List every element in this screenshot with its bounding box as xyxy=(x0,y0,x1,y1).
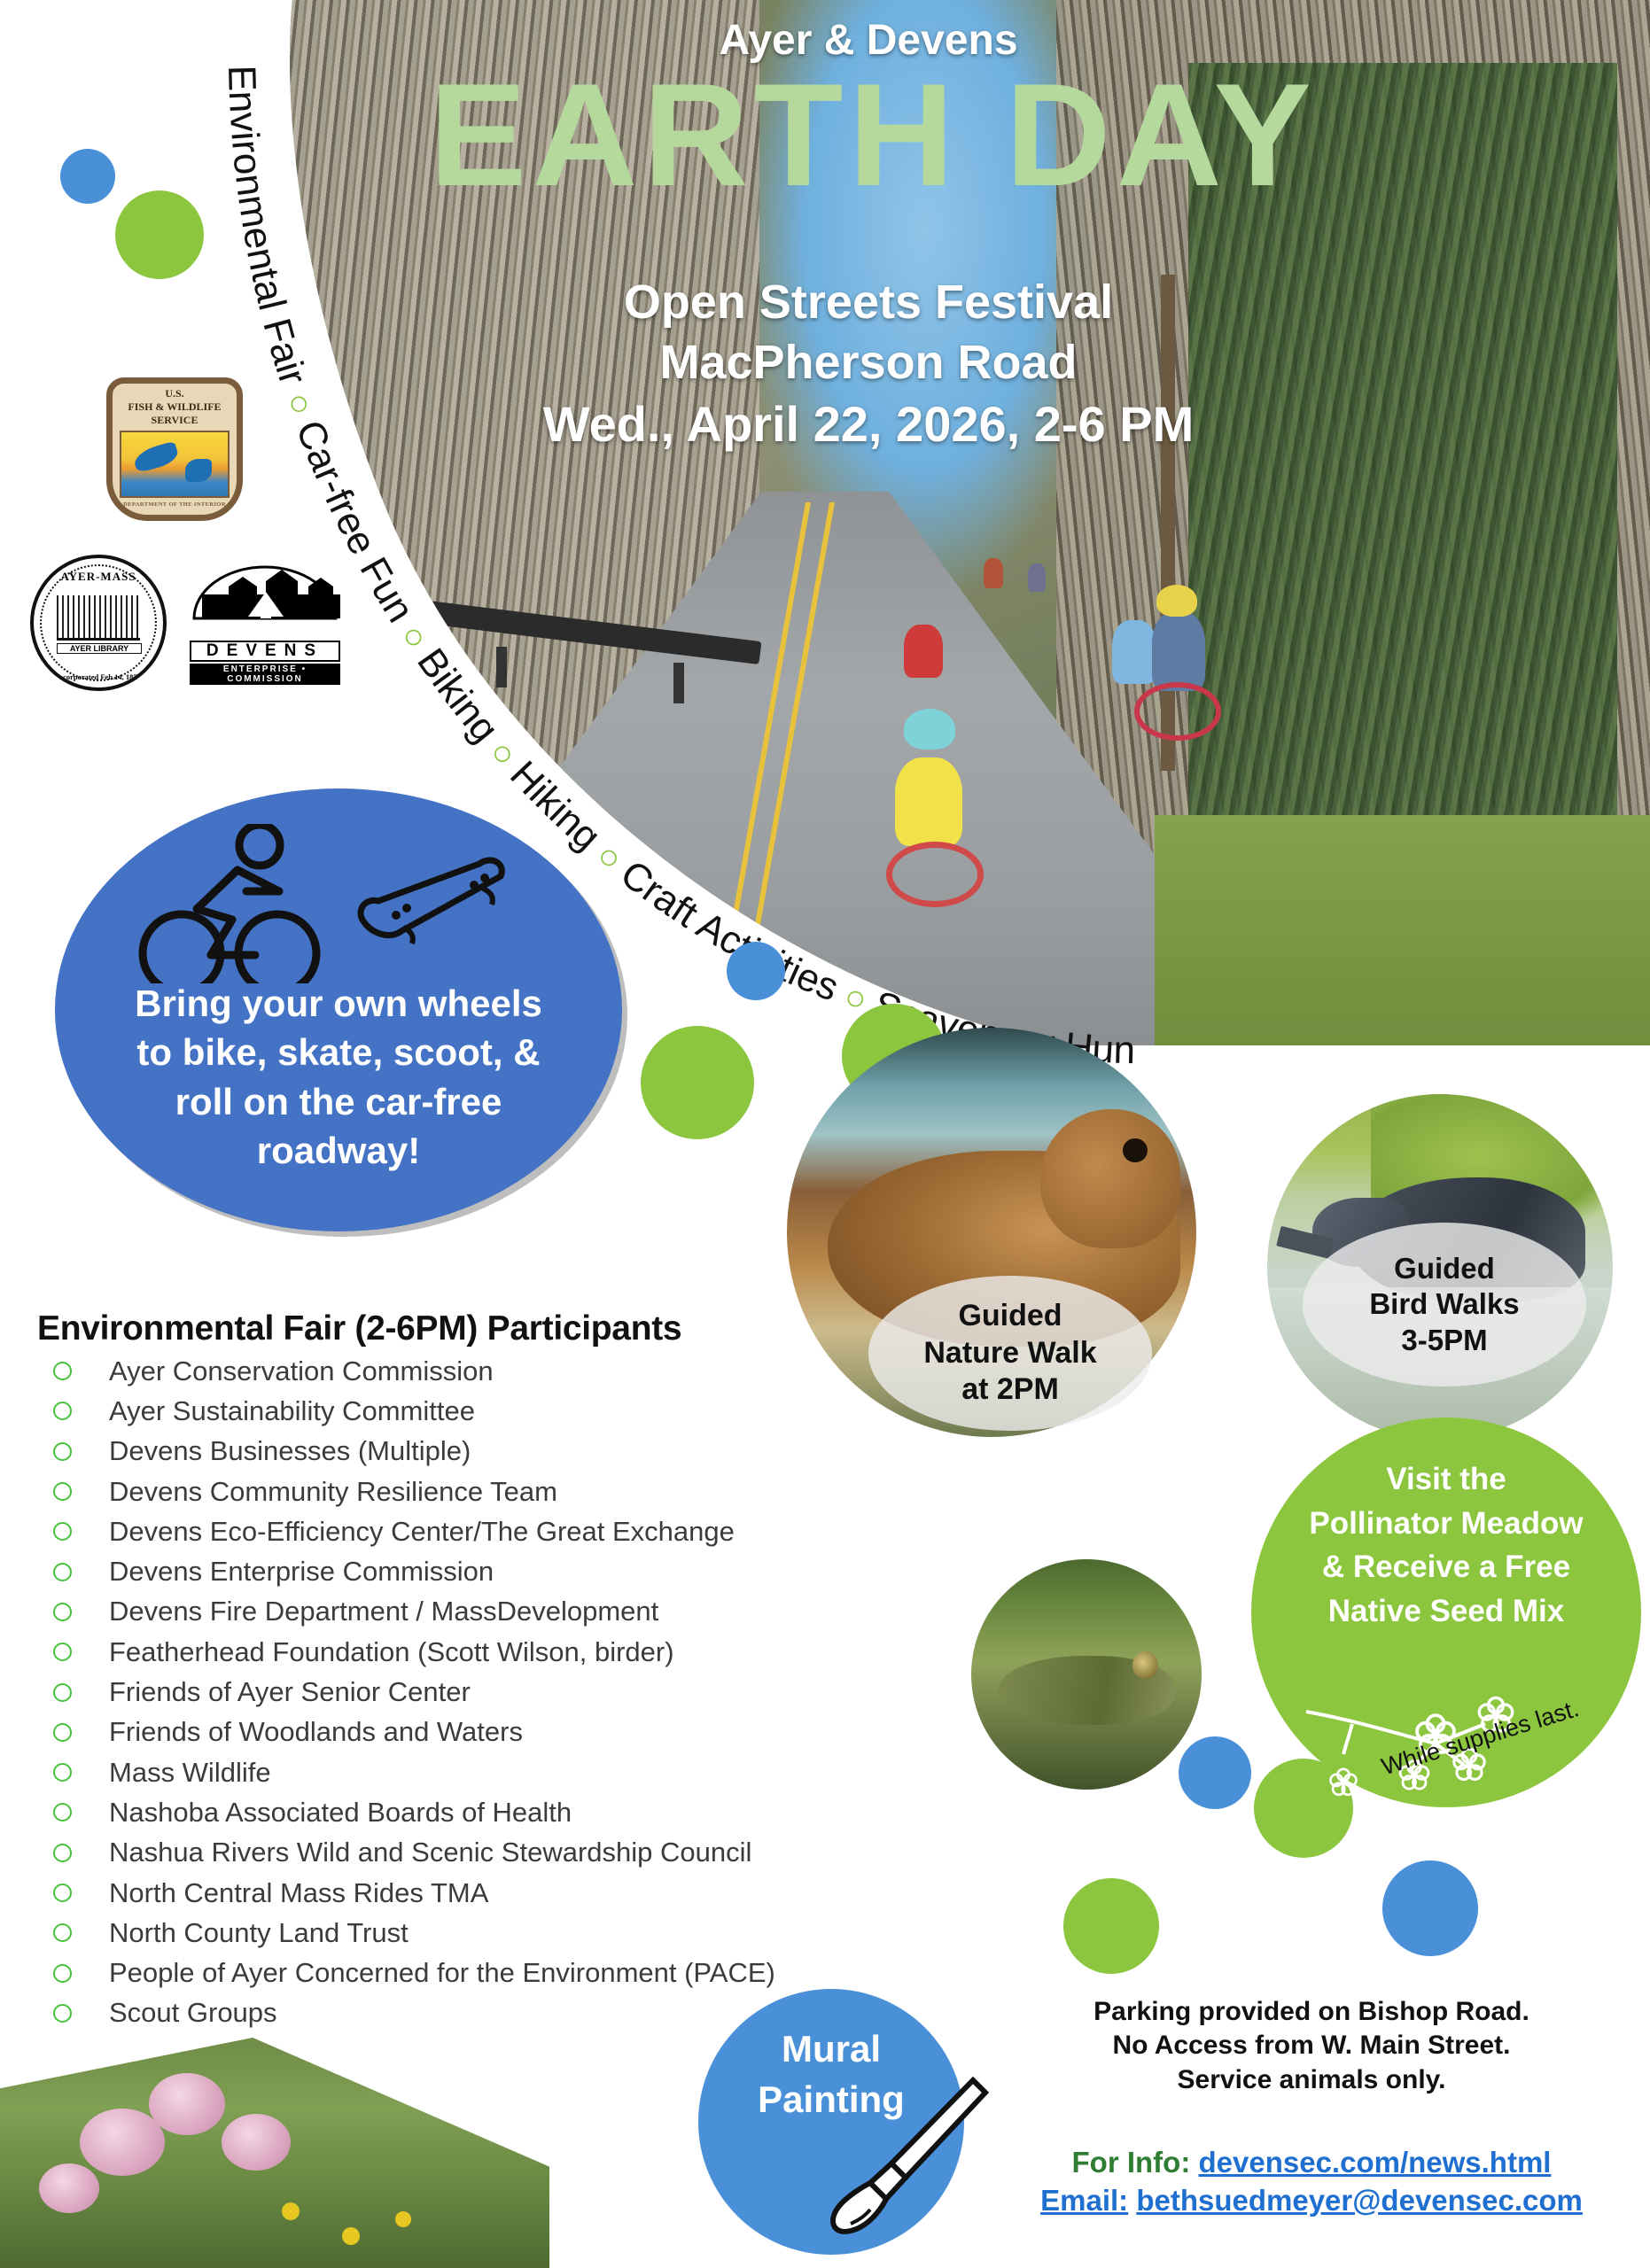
participant-label: Devens Fire Department / MassDevelopment xyxy=(109,1596,658,1627)
header-subtitle-3: Wed., April 22, 2026, 2-6 PM xyxy=(354,395,1382,453)
rider-bike-1 xyxy=(886,842,984,907)
ayer-seal-top-text: AYER-MASS xyxy=(34,570,163,584)
list-item: North County Land Trust xyxy=(44,1913,984,1953)
nature-walk-caption: Guided Nature Walk at 2PM xyxy=(868,1276,1152,1431)
devens-wordmark: DEVENS xyxy=(190,641,340,662)
fws-line3: SERVICE xyxy=(113,414,237,427)
rider-far-1 xyxy=(984,558,1003,588)
milkweed-image xyxy=(0,2038,549,2268)
ayer-seal-bottom-text: Incorporated Feb.14, 1871 xyxy=(34,672,163,681)
email-row: Email: bethsuedmeyer@devensec.com xyxy=(984,2182,1639,2220)
decor-dot-blue-4 xyxy=(1382,1860,1478,1956)
list-item: Devens Fire Department / MassDevelopment xyxy=(44,1592,984,1632)
decor-dot-blue-2 xyxy=(727,942,785,1000)
participant-label: Nashoba Associated Boards of Health xyxy=(109,1797,572,1829)
bullet-circle-icon xyxy=(53,1643,72,1661)
fws-emblem xyxy=(120,431,230,498)
nature-walk-caption-line-1: Nature Walk xyxy=(923,1335,1096,1371)
rider-child-blue xyxy=(1112,620,1156,684)
bullet-circle-icon xyxy=(53,1923,72,1942)
parking-line-3: Service animals only. xyxy=(1010,2063,1613,2097)
list-item: Nashoba Associated Boards of Health xyxy=(44,1792,984,1832)
page-title: EARTH DAY xyxy=(381,62,1365,208)
list-item: Nashua Rivers Wild and Scenic Stewardshi… xyxy=(44,1833,984,1873)
milkweed-flower xyxy=(80,2109,165,2176)
wheels-line-1: to bike, skate, scoot, & xyxy=(55,1028,622,1076)
us-fish-and-wildlife-service-logo: U.S. FISH & WILDLIFE SERVICE DEPARTMENT … xyxy=(106,377,243,521)
participant-label: Mass Wildlife xyxy=(109,1757,271,1789)
email-link[interactable]: bethsuedmeyer@devensec.com xyxy=(1136,2184,1583,2217)
participant-label: People of Ayer Concerned for the Environ… xyxy=(109,1957,775,1989)
ayer-seal-plaque: AYER LIBRARY xyxy=(57,643,142,654)
participant-label: Scout Groups xyxy=(109,1997,277,2029)
participant-label: North Central Mass Rides TMA xyxy=(109,1877,488,1909)
bird-walk-caption: Guided Bird Walks 3-5PM xyxy=(1303,1223,1586,1386)
list-item: Devens Enterprise Commission xyxy=(44,1551,984,1591)
devens-subtitle: ENTERPRISE • COMMISSION xyxy=(190,664,340,685)
participant-label: Featherhead Foundation (Scott Wilson, bi… xyxy=(109,1636,674,1668)
participant-label: Devens Enterprise Commission xyxy=(109,1556,494,1588)
list-item: Friends of Woodlands and Waters xyxy=(44,1713,984,1752)
pollinator-line-0: Visit the xyxy=(1251,1457,1641,1502)
bullet-circle-icon xyxy=(53,1844,72,1862)
list-item: Devens Community Resilience Team xyxy=(44,1472,984,1511)
list-item: North Central Mass Rides TMA xyxy=(44,1873,984,1913)
parking-line-1: Parking provided on Bishop Road. xyxy=(1010,1995,1613,2029)
milkweed-dandelion xyxy=(342,2227,360,2245)
rider-adult xyxy=(1152,611,1205,691)
bullet-circle-icon xyxy=(53,1362,72,1380)
info-label: For Info: xyxy=(1072,2146,1191,2179)
ayer-library-seal: AYER-MASS AYER LIBRARY Incorporated Feb.… xyxy=(30,555,167,691)
fish-icon xyxy=(185,459,212,482)
participant-label: Friends of Ayer Senior Center xyxy=(109,1676,471,1708)
list-item: Featherhead Foundation (Scott Wilson, bi… xyxy=(44,1632,984,1672)
bullet-circle-icon xyxy=(53,1482,72,1501)
pollinator-line-3: Native Seed Mix xyxy=(1251,1589,1641,1634)
wheels-line-2: roll on the car-free xyxy=(55,1077,622,1126)
list-item: Mass Wildlife xyxy=(44,1752,984,1792)
pollinator-line-2: & Receive a Free xyxy=(1251,1545,1641,1589)
bullet-circle-icon xyxy=(53,2004,72,2023)
pollinator-badge-text: Visit the Pollinator Meadow & Receive a … xyxy=(1251,1457,1641,1634)
milkweed-flower xyxy=(149,2073,225,2135)
ayer-seal-building xyxy=(57,595,140,641)
bullet-circle-icon xyxy=(53,1723,72,1742)
fair-title: Environmental Fair (2-6PM) Participants xyxy=(37,1309,681,1348)
bullet-circle-icon xyxy=(53,1964,72,1983)
milkweed-dandelion xyxy=(282,2202,300,2220)
participant-label: Devens Businesses (Multiple) xyxy=(109,1435,471,1467)
frog-photo xyxy=(971,1559,1202,1790)
fair-participants-list: Ayer Conservation Commission Ayer Sustai… xyxy=(44,1351,984,2033)
decor-dot-green-5 xyxy=(1063,1878,1159,1974)
guardrail-post-3 xyxy=(673,663,684,703)
arc-sep-1: ○ xyxy=(392,617,441,665)
wheels-badge-text: Bring your own wheels to bike, skate, sc… xyxy=(55,979,622,1176)
decor-dot-blue-1 xyxy=(60,149,115,204)
bird-walk-caption-line-2: 3-5PM xyxy=(1369,1323,1519,1358)
beaver-eye xyxy=(1123,1138,1148,1163)
rider-child-red xyxy=(904,625,943,678)
nature-walk-caption-line-0: Guided xyxy=(923,1298,1096,1334)
bullet-circle-icon xyxy=(53,1683,72,1702)
participant-label: North County Land Trust xyxy=(109,1917,409,1949)
header-subtitle-1: Open Streets Festival xyxy=(381,275,1356,330)
bird-walk-caption-line-1: Bird Walks xyxy=(1369,1286,1519,1322)
fws-line4: DEPARTMENT OF THE INTERIOR xyxy=(113,501,237,508)
skateboard-icon xyxy=(350,846,518,952)
bird-walk-caption-line-0: Guided xyxy=(1369,1251,1519,1286)
nature-walk-caption-line-2: at 2PM xyxy=(923,1371,1096,1408)
cyclist-icon xyxy=(133,824,372,983)
decor-dot-green-1 xyxy=(115,190,204,279)
participant-label: Devens Community Resilience Team xyxy=(109,1476,557,1508)
frog-eye xyxy=(1132,1651,1158,1679)
participant-label: Ayer Conservation Commission xyxy=(109,1355,494,1387)
bullet-circle-icon xyxy=(53,1442,72,1461)
wheels-line-3: roadway! xyxy=(55,1126,622,1175)
arc-sep-0: ○ xyxy=(277,387,324,430)
list-item: Devens Eco-Efficiency Center/The Great E… xyxy=(44,1511,984,1551)
participant-label: Friends of Woodlands and Waters xyxy=(109,1716,523,1748)
header-subtitle-2: MacPherson Road xyxy=(381,335,1356,390)
beaver-head xyxy=(1040,1109,1179,1248)
info-row: For Info: devensec.com/news.html xyxy=(984,2144,1639,2182)
milkweed-flower xyxy=(39,2163,99,2213)
fws-line1: U.S. xyxy=(113,387,237,400)
arc-item-6: Bird Box Making xyxy=(0,0,16,9)
arc-sep-2: ○ xyxy=(481,733,531,782)
parking-info: Parking provided on Bishop Road. No Acce… xyxy=(1010,1995,1613,2097)
bullet-circle-icon xyxy=(53,1402,72,1420)
arc-sep-3: ○ xyxy=(588,835,637,885)
pollinator-line-1: Pollinator Meadow xyxy=(1251,1502,1641,1546)
bullet-circle-icon xyxy=(53,1603,72,1621)
contact-links: For Info: devensec.com/news.html Email: … xyxy=(984,2144,1639,2220)
parking-line-2: No Access from W. Main Street. xyxy=(1010,2029,1613,2062)
right-grass xyxy=(1155,815,1650,1045)
bullet-circle-icon xyxy=(53,1763,72,1782)
devens-enterprise-commission-logo: DEVENS ENTERPRISE • COMMISSION xyxy=(190,565,340,673)
frog-image xyxy=(971,1559,1202,1790)
bullet-circle-icon xyxy=(53,1803,72,1821)
bullet-circle-icon xyxy=(53,1522,72,1541)
decor-dot-green-2 xyxy=(641,1026,754,1139)
arc-sep-5: ○ xyxy=(0,0,11,8)
milkweed-dandelion xyxy=(395,2211,411,2227)
rider-helmet-yellow xyxy=(1156,585,1197,617)
rider-helmet-teal xyxy=(904,709,955,750)
wheels-line-0: Bring your own wheels xyxy=(55,979,622,1028)
email-label: Email: xyxy=(1040,2184,1128,2217)
fws-line2: FISH & WILDLIFE xyxy=(113,400,237,414)
rider-bike-2 xyxy=(1134,682,1221,741)
participant-label: Nashua Rivers Wild and Scenic Stewardshi… xyxy=(109,1837,751,1868)
duck-icon xyxy=(132,441,181,474)
devens-skyline-icon xyxy=(190,565,340,640)
milkweed-flower xyxy=(222,2114,291,2171)
rider-child-yellow xyxy=(895,757,962,846)
bullet-circle-icon xyxy=(53,1563,72,1581)
list-item: Devens Businesses (Multiple) xyxy=(44,1432,984,1472)
participant-label: Devens Eco-Efficiency Center/The Great E… xyxy=(109,1516,735,1548)
guardrail-post-2 xyxy=(496,647,507,687)
milkweed-photo xyxy=(0,2038,549,2268)
bullet-circle-icon xyxy=(53,1884,72,1902)
paintbrush-icon xyxy=(824,2064,992,2241)
list-item: Friends of Ayer Senior Center xyxy=(44,1672,984,1712)
participant-label: Ayer Sustainability Committee xyxy=(109,1395,475,1427)
website-link[interactable]: devensec.com/news.html xyxy=(1198,2146,1551,2179)
list-item: People of Ayer Concerned for the Environ… xyxy=(44,1953,984,1992)
rider-far-2 xyxy=(1028,563,1046,592)
earth-day-poster: Environmental Fair ○ Car-free Fun ○ Biki… xyxy=(0,0,1650,2268)
